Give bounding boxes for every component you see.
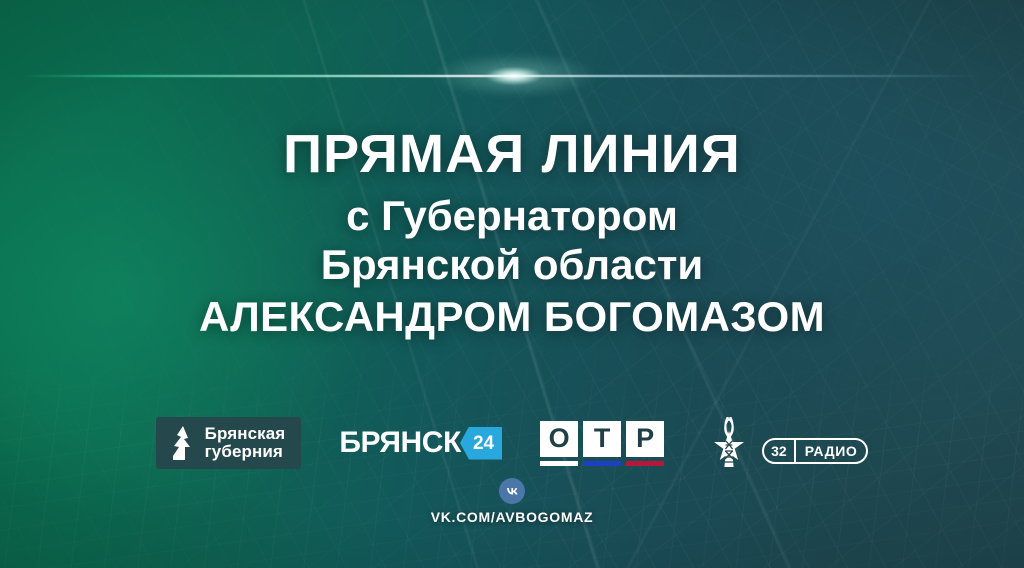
logo-radio-number: 32 xyxy=(764,440,796,462)
subtitle-line-two: Брянской области xyxy=(0,241,1024,288)
subtitle-line-one: с Губернатором xyxy=(0,192,1024,239)
logo-otr-letter-t: Т xyxy=(583,421,621,457)
vk-url-label: VK.COM/AVBOGOMAZ xyxy=(431,509,594,525)
page-title: ПРЯМАЯ ЛИНИЯ xyxy=(0,126,1024,182)
logo-guberniya-wordmark: Брянская губерния xyxy=(205,425,286,460)
partner-logo-row: Брянская губерния БРЯНСК 24 О Т Р xyxy=(0,416,1024,470)
flag-banner-icon xyxy=(170,426,196,460)
logo-guberniya-word-top: Брянская xyxy=(205,425,286,442)
logo-radio-pill: 32 РАДИО xyxy=(762,438,868,464)
logo-otr-cell-o: О xyxy=(540,421,578,466)
vk-icon[interactable] xyxy=(499,478,525,504)
logo-otr-cell-t: Т xyxy=(583,421,621,466)
vk-block[interactable]: VK.COM/AVBOGOMAZ xyxy=(0,478,1024,525)
logo-otr[interactable]: О Т Р xyxy=(540,421,664,466)
logo-otr-rule-blue xyxy=(583,461,621,466)
logo-guberniya-word-bottom: губерния xyxy=(205,443,286,460)
logo-bryansk-word: БРЯНСК xyxy=(339,428,462,458)
radio-tower-star-icon xyxy=(702,417,756,469)
logo-bryansk-badge: 24 xyxy=(460,427,502,460)
logo-32-radio[interactable]: 32 РАДИО xyxy=(702,417,868,469)
logo-radio-word: РАДИО xyxy=(796,440,867,462)
governor-name: АЛЕКСАНДРОМ БОГОМАЗОМ xyxy=(0,294,1024,340)
logo-otr-cell-p: Р xyxy=(626,421,664,466)
logo-bryanskaya-guberniya[interactable]: Брянская губерния xyxy=(156,417,302,469)
vk-glyph-icon xyxy=(504,483,521,500)
title-block: ПРЯМАЯ ЛИНИЯ с Губернатором Брянской обл… xyxy=(0,126,1024,340)
logo-bryansk-24[interactable]: БРЯНСК 24 xyxy=(339,423,502,463)
broadcast-title-card: ПРЯМАЯ ЛИНИЯ с Губернатором Брянской обл… xyxy=(0,0,1024,568)
logo-otr-rule-white xyxy=(540,461,578,466)
logo-otr-letter-o: О xyxy=(540,421,578,457)
logo-otr-rule-red xyxy=(626,461,664,466)
logo-otr-letter-p: Р xyxy=(626,421,664,457)
